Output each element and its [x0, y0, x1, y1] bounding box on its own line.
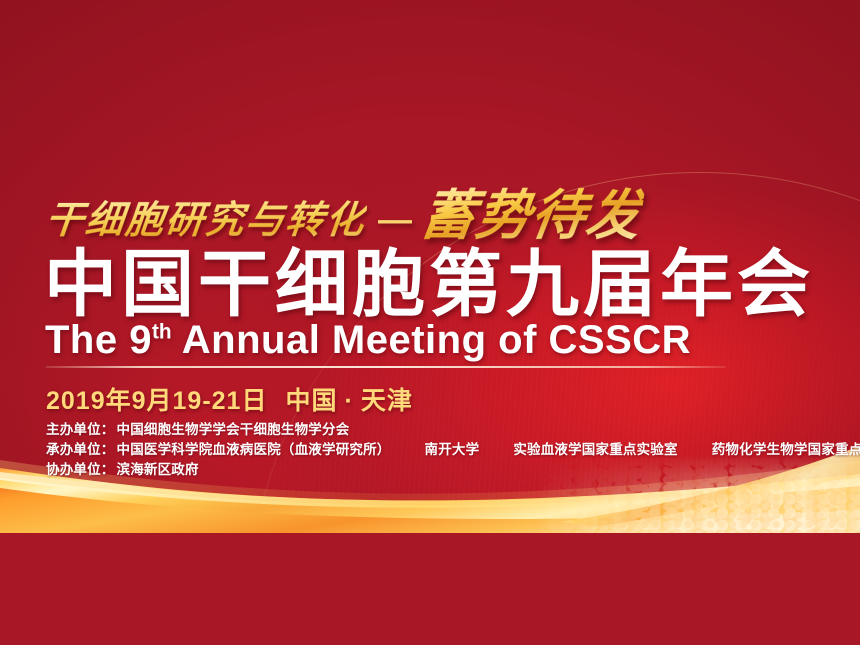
title-divider: [46, 366, 726, 368]
organizer-row: 协办单位：滨海新区政府: [46, 460, 860, 480]
organizer-label: 协办单位：: [46, 462, 115, 477]
location-separator: ·: [344, 387, 353, 415]
organizer-label: 主办单位：: [46, 422, 115, 437]
organizer-row: 主办单位：中国细胞生物学学会干细胞生物学分会: [46, 420, 860, 440]
banner-content: 干细胞研究与转化 — 蓄势待发 中国干细胞第九届年会 The 9th Annua…: [0, 0, 860, 533]
title-english-prefix: The 9: [45, 318, 152, 362]
calligraphy-dash: —: [378, 201, 412, 240]
calligraphy-right-phrase: 蓄势待发: [416, 171, 647, 250]
organizer-value: 滨海新区政府: [117, 462, 199, 477]
organizer-extra: 实验血液学国家重点实验室: [513, 442, 677, 457]
calligraphy-tagline: 干细胞研究与转化 — 蓄势待发: [46, 176, 726, 244]
date-location-line: 2019年9月19-21日中国·天津: [46, 381, 413, 417]
title-english-suffix: Annual Meeting of CSSCR: [172, 318, 691, 362]
conference-banner: 干细胞研究与转化 — 蓄势待发 中国干细胞第九届年会 The 9th Annua…: [0, 0, 860, 645]
page-title-chinese: 中国干细胞第九届年会: [44, 248, 814, 321]
organizer-list: 主办单位：中国细胞生物学学会干细胞生物学分会 承办单位：中国医学科学院血液病医院…: [46, 420, 860, 480]
organizer-value: 中国医学科学院血液病医院（血液学研究所）: [117, 442, 391, 457]
page-title-english: The 9th Annual Meeting of CSSCR: [45, 320, 691, 360]
organizer-row: 承办单位：中国医学科学院血液病医院（血液学研究所）南开大学实验血液学国家重点实验…: [46, 440, 860, 460]
event-date: 2019年9月19-21日: [46, 387, 267, 415]
organizer-label: 承办单位：: [46, 442, 115, 457]
organizer-value: 中国细胞生物学学会干细胞生物学分会: [117, 422, 350, 437]
organizer-extra: 南开大学: [425, 442, 480, 457]
calligraphy-left-phrase: 干细胞研究与转化: [43, 189, 369, 244]
event-city: 天津: [361, 387, 413, 415]
bottom-band: [0, 533, 860, 645]
event-country: 中国: [285, 387, 337, 415]
organizer-extra: 药物化学生物学国家重点实验室: [712, 442, 860, 457]
title-english-ordinal: th: [152, 321, 172, 344]
